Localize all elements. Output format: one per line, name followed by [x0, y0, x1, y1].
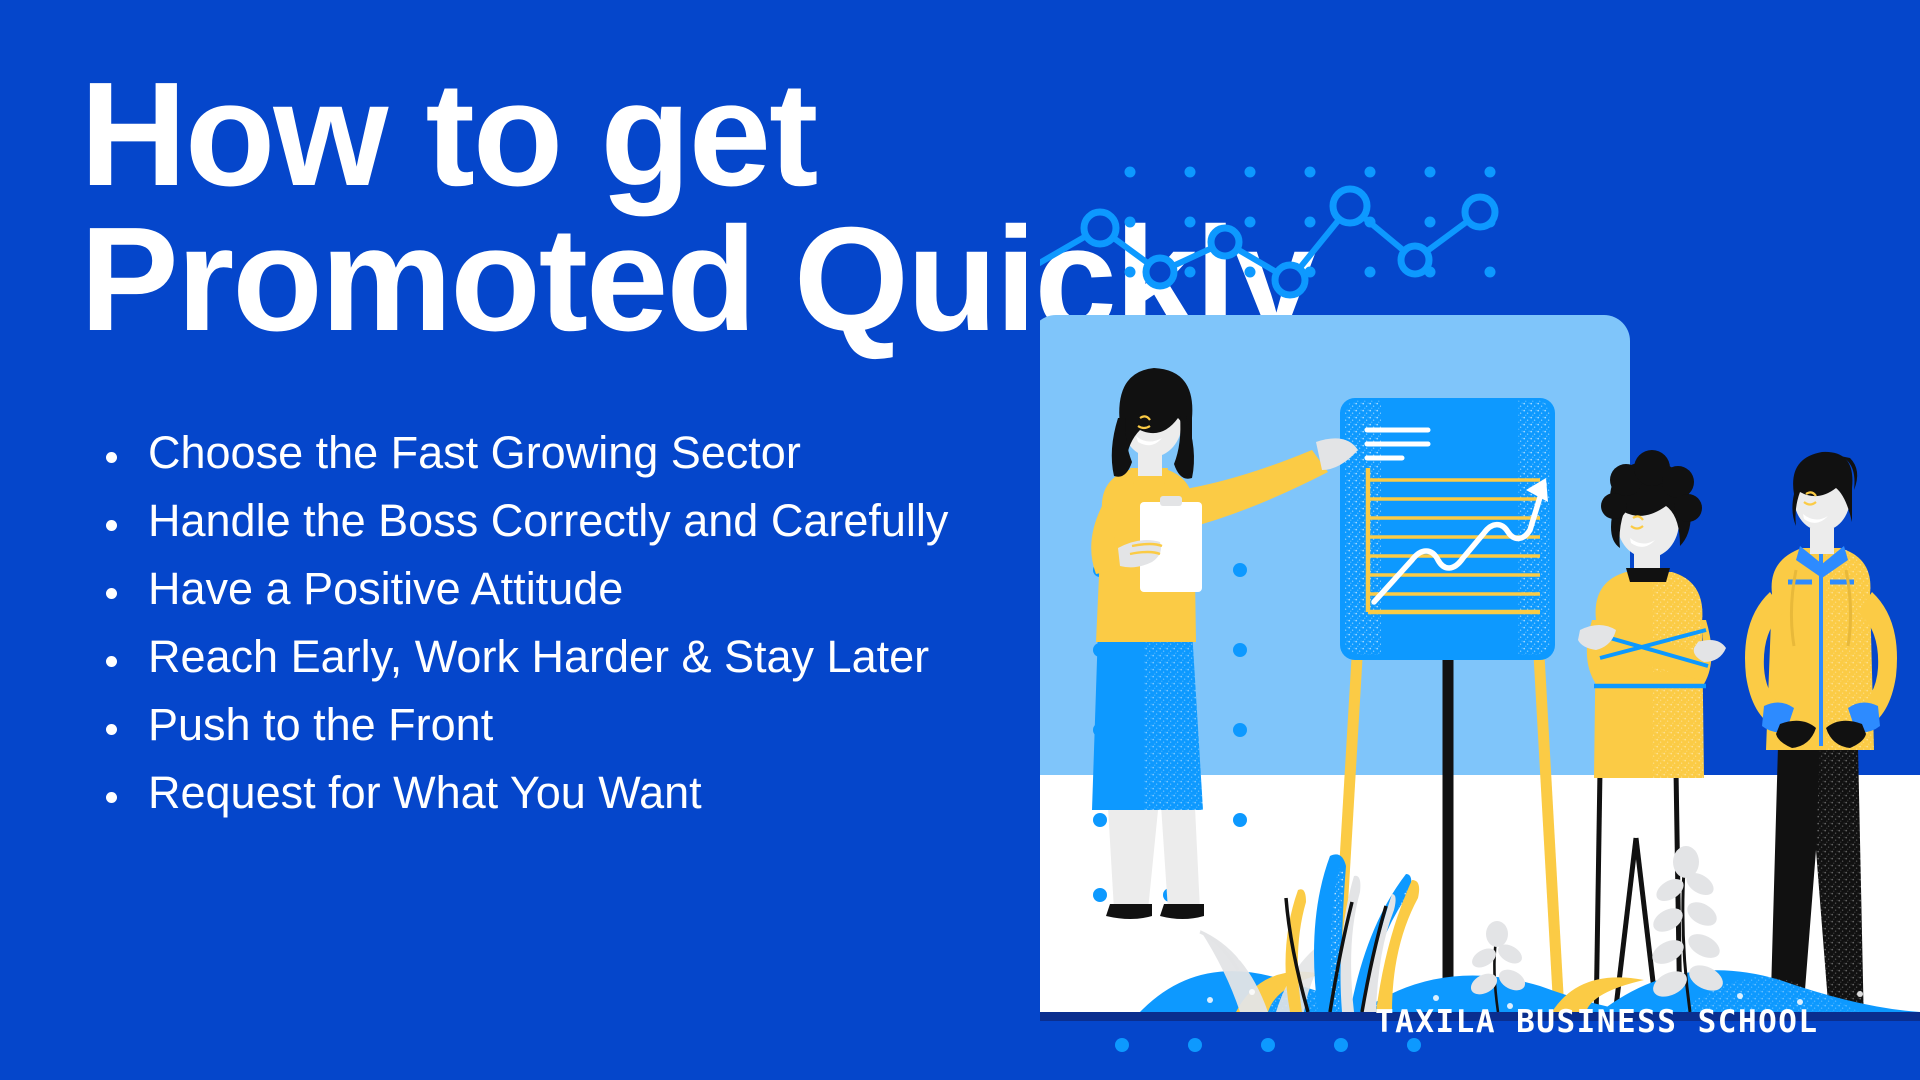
list-item: Handle the Boss Correctly and Carefully: [98, 498, 1098, 566]
bullet-label: Have a Positive Attitude: [148, 566, 623, 611]
list-item: Push to the Front: [98, 702, 1098, 770]
list-item: Choose the Fast Growing Sector: [98, 430, 1098, 498]
bullet-dot-icon: [106, 792, 117, 803]
list-item: Reach Early, Work Harder & Stay Later: [98, 634, 1098, 702]
bullet-label: Reach Early, Work Harder & Stay Later: [148, 634, 929, 679]
list-item: Have a Positive Attitude: [98, 566, 1098, 634]
bullet-dot-icon: [106, 656, 117, 667]
bullet-label: Push to the Front: [148, 702, 493, 747]
business-team-presentation-illustration: [1040, 150, 1920, 1080]
bullet-label: Choose the Fast Growing Sector: [148, 430, 801, 475]
bullet-label: Handle the Boss Correctly and Carefully: [148, 498, 948, 543]
bullet-label: Request for What You Want: [148, 770, 702, 815]
bullet-list: Choose the Fast Growing Sector Handle th…: [98, 430, 1098, 838]
headline-line-1: How to get: [80, 62, 1140, 207]
page-title: How to get Promoted Quickly: [80, 62, 1140, 352]
bullet-dot-icon: [106, 520, 117, 531]
slide-canvas: How to get Promoted Quickly Choose the F…: [0, 0, 1920, 1080]
bullet-dot-icon: [106, 724, 117, 735]
list-item: Request for What You Want: [98, 770, 1098, 838]
brand-label: TAXILA BUSINESS SCHOOL: [1375, 1004, 1819, 1040]
bullet-dot-icon: [106, 452, 117, 463]
bullet-dot-icon: [106, 588, 117, 599]
headline-line-2: Promoted Quickly: [80, 207, 1140, 352]
flipchart-growth-chart: [1340, 398, 1555, 660]
line-chart-nodes: [1040, 189, 1495, 295]
